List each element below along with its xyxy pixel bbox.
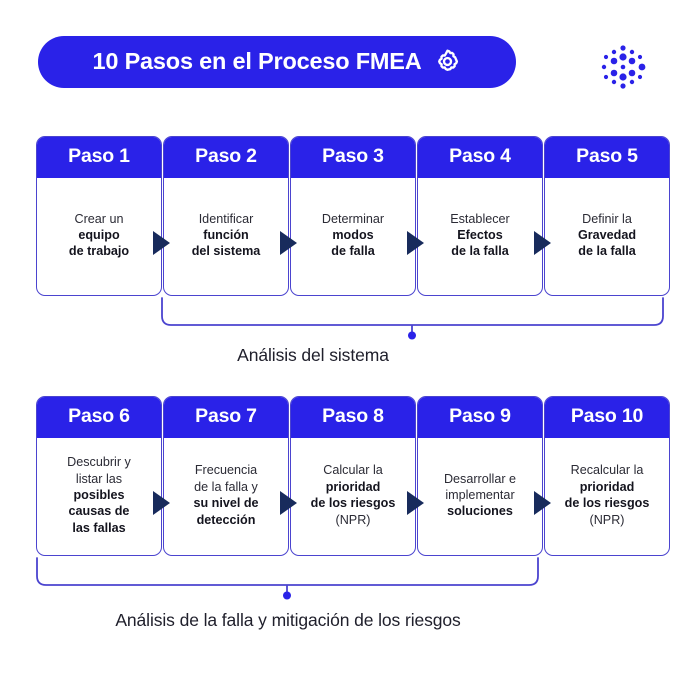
step-card-header: Paso 8 <box>291 397 415 438</box>
step-card[interactable]: Paso 6 Descubrir y listar las posibles c… <box>36 396 162 556</box>
step-card[interactable]: Paso 2 Identificar función del sistema <box>163 136 289 296</box>
page-title: 10 Pasos en el Proceso FMEA <box>93 48 422 75</box>
step-card-header: Paso 10 <box>545 397 669 438</box>
hexagon-dots-logo <box>597 41 649 93</box>
bracket-row-1 <box>160 298 670 338</box>
step-line: posibles <box>73 487 124 503</box>
step-line: de los riesgos <box>311 495 396 511</box>
step-card-body: Determinar modos de falla <box>291 178 415 296</box>
step-line: (NPR) <box>590 512 625 528</box>
step-line: Establecer <box>450 211 510 227</box>
flow-arrow-icon <box>153 231 170 255</box>
step-card-body: Definir la Gravedad de la falla <box>545 178 669 296</box>
step-line: detección <box>197 512 256 528</box>
step-line: soluciones <box>447 503 513 519</box>
step-card-body: Descubrir y listar las posibles causas d… <box>37 438 161 556</box>
step-card-body: Calcular la prioridad de los riesgos (NP… <box>291 438 415 556</box>
step-card-body: Desarrollar e implementar soluciones <box>418 438 542 556</box>
flow-arrow-icon <box>153 491 170 515</box>
step-card[interactable]: Paso 10 Recalcular la prioridad de los r… <box>544 396 670 556</box>
step-card[interactable]: Paso 8 Calcular la prioridad de los ries… <box>290 396 416 556</box>
step-card-body: Identificar función del sistema <box>164 178 288 296</box>
step-line: Determinar <box>322 211 384 227</box>
step-line: modos <box>332 227 373 243</box>
step-line: Frecuencia <box>195 462 257 478</box>
step-line: Definir la <box>582 211 632 227</box>
bracket-label-row-1: Análisis del sistema <box>237 345 389 366</box>
step-line: equipo <box>78 227 119 243</box>
step-card[interactable]: Paso 7 Frecuencia de la falla y su nivel… <box>163 396 289 556</box>
step-line: Efectos <box>457 227 503 243</box>
step-line: de trabajo <box>69 243 129 259</box>
step-card[interactable]: Paso 5 Definir la Gravedad de la falla <box>544 136 670 296</box>
step-line: de la falla <box>578 243 635 259</box>
infographic-canvas: 10 Pasos en el Proceso FMEA <box>0 0 700 700</box>
step-line: Recalcular la <box>571 462 644 478</box>
title-pill: 10 Pasos en el Proceso FMEA <box>38 36 516 88</box>
step-line: de los riesgos <box>565 495 650 511</box>
step-card[interactable]: Paso 4 Establecer Efectos de la falla <box>417 136 543 296</box>
step-card-header: Paso 6 <box>37 397 161 438</box>
gear-icon <box>434 48 461 75</box>
step-line: Gravedad <box>578 227 636 243</box>
step-card-header: Paso 7 <box>164 397 288 438</box>
step-line: prioridad <box>580 479 635 495</box>
step-line: Crear un <box>75 211 124 227</box>
step-card-header: Paso 1 <box>37 137 161 178</box>
step-line: Desarrollar e <box>444 471 516 487</box>
bracket-row-2 <box>35 558 545 598</box>
step-line: de la falla y <box>194 479 258 495</box>
step-card-header: Paso 4 <box>418 137 542 178</box>
step-line: Calcular la <box>323 462 383 478</box>
step-card-body: Crear un equipo de trabajo <box>37 178 161 296</box>
step-card-header: Paso 5 <box>545 137 669 178</box>
step-line: de falla <box>331 243 374 259</box>
step-line: prioridad <box>326 479 381 495</box>
step-card[interactable]: Paso 9 Desarrollar e implementar solucio… <box>417 396 543 556</box>
step-card-header: Paso 2 <box>164 137 288 178</box>
step-line: listar las <box>76 471 122 487</box>
step-card-header: Paso 9 <box>418 397 542 438</box>
flow-arrow-icon <box>534 491 551 515</box>
step-line: (NPR) <box>336 512 371 528</box>
step-line: las fallas <box>72 520 125 536</box>
flow-arrow-icon <box>407 231 424 255</box>
step-line: de la falla <box>451 243 508 259</box>
bracket-label-row-2: Análisis de la falla y mitigación de los… <box>115 610 460 631</box>
step-line: del sistema <box>192 243 261 259</box>
flow-arrow-icon <box>534 231 551 255</box>
step-card-header: Paso 3 <box>291 137 415 178</box>
step-card-body: Recalcular la prioridad de los riesgos (… <box>545 438 669 556</box>
flow-arrow-icon <box>280 491 297 515</box>
step-card[interactable]: Paso 3 Determinar modos de falla <box>290 136 416 296</box>
step-line: causas de <box>69 503 130 519</box>
step-line: Identificar <box>199 211 254 227</box>
step-card[interactable]: Paso 1 Crear un equipo de trabajo <box>36 136 162 296</box>
step-line: función <box>203 227 248 243</box>
flow-arrow-icon <box>280 231 297 255</box>
flow-arrow-icon <box>407 491 424 515</box>
step-card-body: Establecer Efectos de la falla <box>418 178 542 296</box>
step-line: Descubrir y <box>67 454 131 470</box>
step-line: su nivel de <box>193 495 258 511</box>
step-line: implementar <box>445 487 514 503</box>
step-card-body: Frecuencia de la falla y su nivel de det… <box>164 438 288 556</box>
